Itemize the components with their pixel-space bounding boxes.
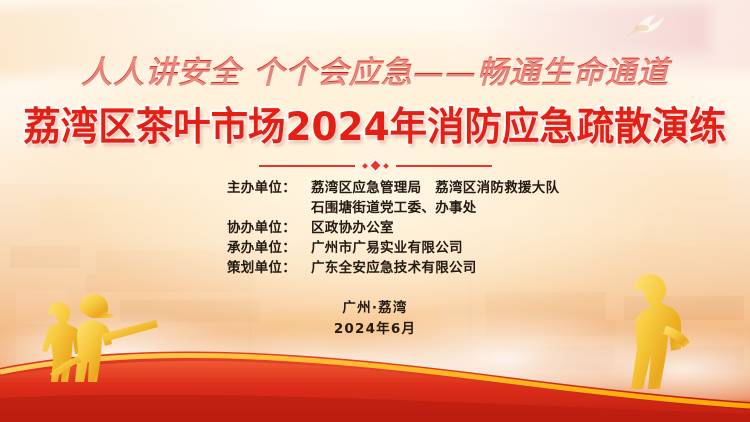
organizer-row: 主办单位： 荔湾区应急管理局 荔湾区消防救援大队 xyxy=(227,178,523,198)
divider-rule-left xyxy=(259,165,355,167)
organizer-label: 主办单位： xyxy=(227,178,311,198)
organizer-list: 主办单位： 荔湾区应急管理局 荔湾区消防救援大队 主办单位： 石围塘街道党工委、… xyxy=(0,178,750,278)
organizer-value: 荔湾区应急管理局 荔湾区消防救援大队 xyxy=(311,178,559,198)
organizer-row: 策划单位： 广东全安应急技术有限公司 xyxy=(227,258,523,278)
organizer-value: 区政协办公室 xyxy=(311,218,394,238)
place-and-date: 广州·荔湾 2024年6月 xyxy=(0,298,750,340)
divider-rule-right xyxy=(396,165,492,167)
divider-ornament xyxy=(363,160,388,171)
diamond-icon xyxy=(367,158,383,174)
organizer-label: 协办单位： xyxy=(227,218,311,238)
diamond-dot-icon xyxy=(362,163,368,169)
place-text: 广州·荔湾 xyxy=(0,298,750,319)
organizer-value: 石围塘街道党工委、办事处 xyxy=(311,198,477,218)
organizer-row: 主办单位： 石围塘街道党工委、办事处 xyxy=(227,198,523,218)
organizer-row: 协办单位： 区政协办公室 xyxy=(227,218,523,238)
organizer-row: 承办单位： 广州市广易实业有限公司 xyxy=(227,238,523,258)
organizer-value: 广东全安应急技术有限公司 xyxy=(311,258,477,278)
poster: 人人讲安全 个个会应急——畅通生命通道 荔湾区茶叶市场2024年消防应急疏散演练… xyxy=(0,0,750,422)
diamond-dot-icon xyxy=(383,163,389,169)
poster-content: 人人讲安全 个个会应急——畅通生命通道 荔湾区茶叶市场2024年消防应急疏散演练… xyxy=(0,0,750,422)
slogan-text: 人人讲安全 个个会应急——畅通生命通道 xyxy=(0,50,750,96)
divider xyxy=(0,160,750,171)
page-title: 荔湾区茶叶市场2024年消防应急疏散演练 xyxy=(15,104,735,152)
organizer-label: 承办单位： xyxy=(227,238,311,258)
organizer-label: 策划单位： xyxy=(227,258,311,278)
date-text: 2024年6月 xyxy=(0,319,750,340)
organizer-value: 广州市广易实业有限公司 xyxy=(311,238,463,258)
